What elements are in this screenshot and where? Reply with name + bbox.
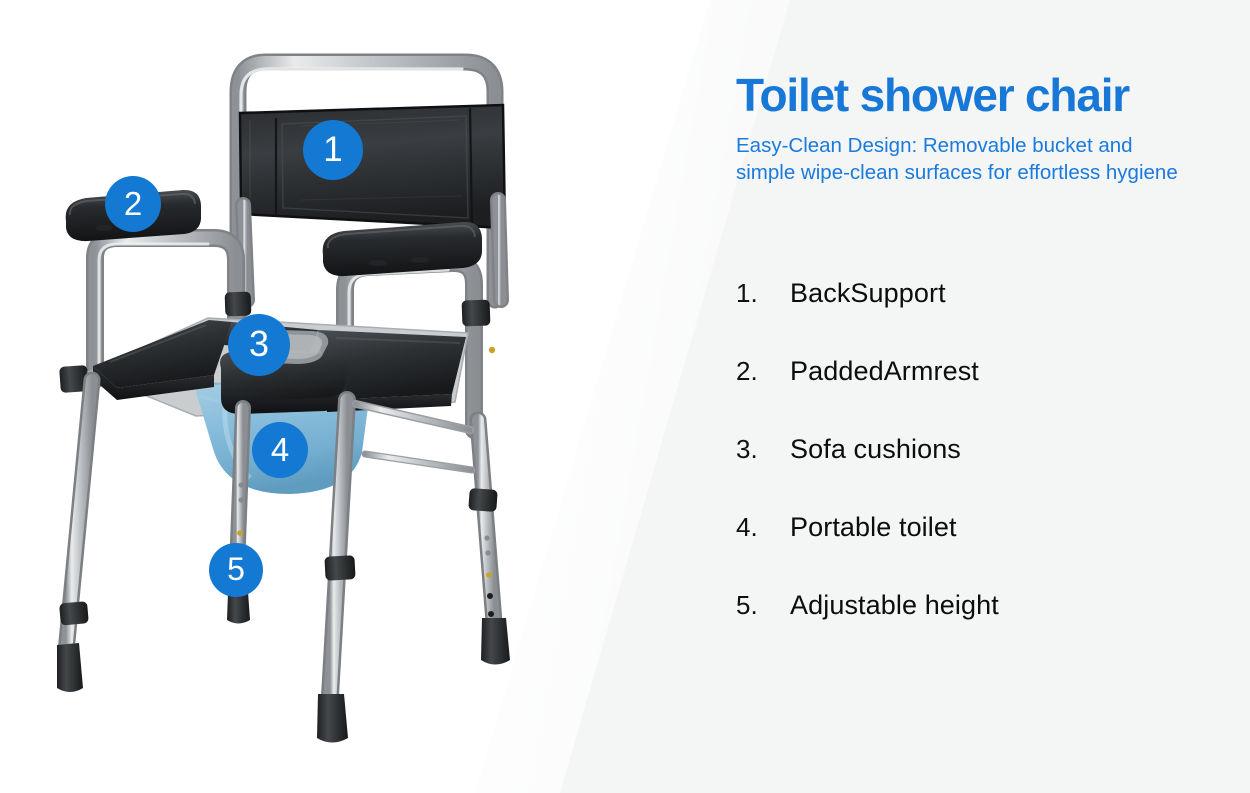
callout-badge-3[interactable]: 3 [228, 314, 290, 376]
callout-badge-5-label: 5 [227, 553, 245, 585]
feature-number-5: 5. [736, 590, 790, 621]
text-panel: Toilet shower chair Easy-Clean Design: R… [736, 72, 1236, 187]
callout-badge-3-label: 3 [249, 326, 269, 362]
right-padded-armrest [323, 222, 482, 276]
callout-badge-2[interactable]: 2 [105, 176, 161, 232]
feature-item-2: 2. PaddedArmrest [736, 356, 1206, 434]
feature-label-5: Adjustable height [790, 590, 999, 621]
callout-badge-4[interactable]: 4 [252, 422, 308, 478]
callout-badge-5[interactable]: 5 [209, 543, 263, 597]
feature-number-4: 4. [736, 512, 790, 543]
feature-list: 1. BackSupport 2. PaddedArmrest 3. Sofa … [736, 278, 1206, 668]
callout-badge-1-label: 1 [323, 132, 342, 167]
feature-label-4: Portable toilet [790, 512, 957, 543]
page-title: Toilet shower chair [736, 72, 1236, 118]
callout-badge-2-label: 2 [124, 187, 142, 220]
feature-label-1: BackSupport [790, 278, 946, 309]
feature-item-4: 4. Portable toilet [736, 512, 1206, 590]
feature-item-3: 3. Sofa cushions [736, 434, 1206, 512]
mesh-backrest [240, 105, 505, 228]
infographic-page: 1 2 3 4 5 Toilet shower chair Easy-Clean… [0, 0, 1250, 793]
feature-number-2: 2. [736, 356, 790, 387]
page-subtitle: Easy-Clean Design: Removable bucket and … [736, 132, 1188, 187]
feature-label-3: Sofa cushions [790, 434, 961, 465]
callout-badge-4-label: 4 [271, 433, 289, 466]
callout-badge-1[interactable]: 1 [303, 120, 363, 180]
product-photo [0, 0, 710, 793]
feature-number-3: 3. [736, 434, 790, 465]
feature-label-2: PaddedArmrest [790, 356, 979, 387]
feature-number-1: 1. [736, 278, 790, 309]
feature-item-5: 5. Adjustable height [736, 590, 1206, 668]
feature-item-1: 1. BackSupport [736, 278, 1206, 356]
